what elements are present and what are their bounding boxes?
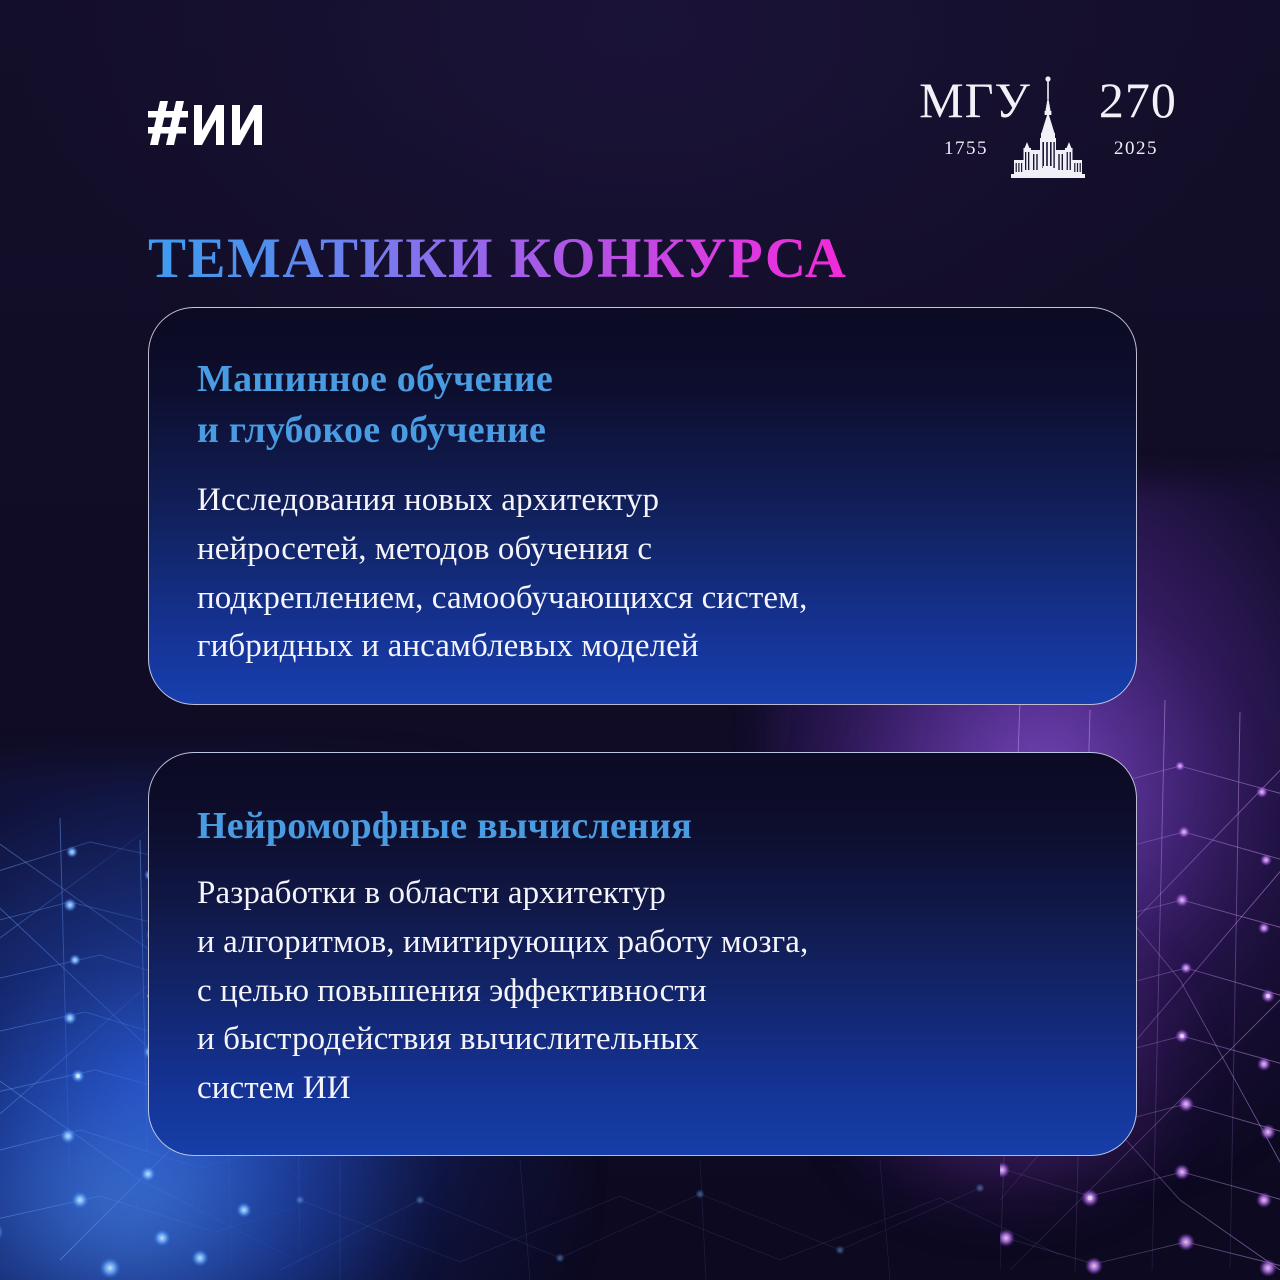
topic-card-heading: Нейроморфные вычисления: [197, 801, 692, 852]
msu-year-to: 2025: [1114, 138, 1158, 160]
msu-building-icon: [1007, 76, 1089, 185]
topic-card-neuromorphic-computing[interactable]: Нейроморфные вычисления Разработки в обл…: [148, 752, 1137, 1156]
msu-year-from: 1755: [944, 138, 988, 160]
topic-card-machine-learning[interactable]: Машинное обучение и глубокое обучение Ис…: [148, 307, 1137, 705]
page-title: ТЕМАТИКИ КОНКУРСА: [148, 230, 847, 287]
msu-logo-bottom-row: 1755 2025: [928, 128, 1168, 166]
msu-anniversary-logo: МГУ 270 1755 2025: [928, 72, 1168, 167]
msu-anniversary-number: 270: [1099, 75, 1177, 125]
topic-card-body: Разработки в области архитектур и алгори…: [197, 869, 1096, 1113]
topic-card-content: Нейроморфные вычисления Разработки в обл…: [149, 753, 1136, 1155]
topic-card-heading: Машинное обучение и глубокое обучение: [197, 354, 553, 455]
hashtag-ai-logo-icon: [148, 95, 264, 151]
slide-canvas: #ИИ МГУ 270 1755 2025: [0, 0, 1280, 1280]
hashtag-ai-logo: #ИИ: [148, 95, 268, 153]
topic-card-content: Машинное обучение и глубокое обучение Ис…: [149, 308, 1136, 704]
topic-card-body: Исследования новых архитектур нейросетей…: [197, 476, 1096, 671]
